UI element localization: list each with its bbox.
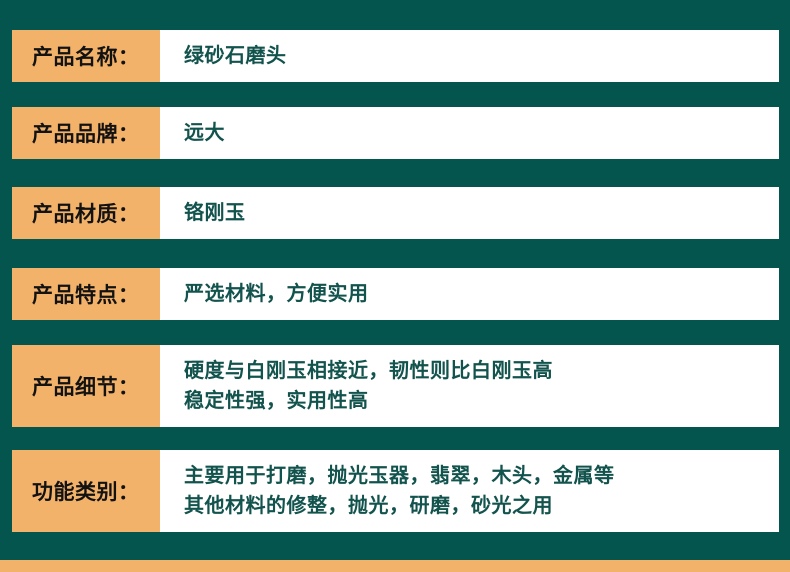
spec-row-value: 铬刚玉 <box>160 187 779 239</box>
spec-row-label: 产品特点： <box>12 268 160 320</box>
spec-row: 功能类别：主要用于打磨，抛光玉器，翡翠，木头，金属等其他材料的修整，抛光，研磨，… <box>12 450 779 532</box>
spec-row-value-line: 硬度与白刚玉相接近，韧性则比白刚玉高 <box>184 356 779 386</box>
spec-row: 产品品牌：远大 <box>12 107 779 159</box>
spec-row-value-line: 严选材料，方便实用 <box>184 279 779 309</box>
spec-row-value-line: 主要用于打磨，抛光玉器，翡翠，木头，金属等 <box>184 461 779 491</box>
spec-row: 产品特点：严选材料，方便实用 <box>12 268 779 320</box>
spec-row-label-text: 产品材质： <box>32 198 140 228</box>
spec-row-value: 严选材料，方便实用 <box>160 268 779 320</box>
spec-row-label-text: 产品品牌： <box>32 118 140 148</box>
spec-row-value-line: 其他材料的修整，抛光，研磨，砂光之用 <box>184 491 779 521</box>
spec-row: 产品细节：硬度与白刚玉相接近，韧性则比白刚玉高稳定性强，实用性高 <box>12 345 779 427</box>
spec-row-value-line: 稳定性强，实用性高 <box>184 386 779 416</box>
spec-row-label-text: 功能类别： <box>32 476 140 506</box>
spec-row-label-text: 产品细节： <box>32 371 140 401</box>
spec-row-label-text: 产品特点： <box>32 279 140 309</box>
spec-row-value: 远大 <box>160 107 779 159</box>
spec-row-label-text: 产品名称： <box>32 41 140 71</box>
spec-row-label: 产品名称： <box>12 30 160 82</box>
spec-row-value-line: 远大 <box>184 118 779 148</box>
spec-row-value-line: 铬刚玉 <box>184 198 779 228</box>
spec-row: 产品名称：绿砂石磨头 <box>12 30 779 82</box>
spec-row-label: 产品细节： <box>12 345 160 427</box>
spec-row-label: 产品品牌： <box>12 107 160 159</box>
spec-row-value: 绿砂石磨头 <box>160 30 779 82</box>
spec-row: 产品材质：铬刚玉 <box>12 187 779 239</box>
spec-row-value: 主要用于打磨，抛光玉器，翡翠，木头，金属等其他材料的修整，抛光，研磨，砂光之用 <box>160 450 779 532</box>
spec-row-label: 功能类别： <box>12 450 160 532</box>
spec-row-value-line: 绿砂石磨头 <box>184 41 779 71</box>
spec-row-value: 硬度与白刚玉相接近，韧性则比白刚玉高稳定性强，实用性高 <box>160 345 779 427</box>
bottom-accent-bar <box>0 560 790 572</box>
product-spec-sheet: 产品名称：绿砂石磨头产品品牌：远大产品材质：铬刚玉产品特点：严选材料，方便实用产… <box>0 0 790 572</box>
spec-row-label: 产品材质： <box>12 187 160 239</box>
